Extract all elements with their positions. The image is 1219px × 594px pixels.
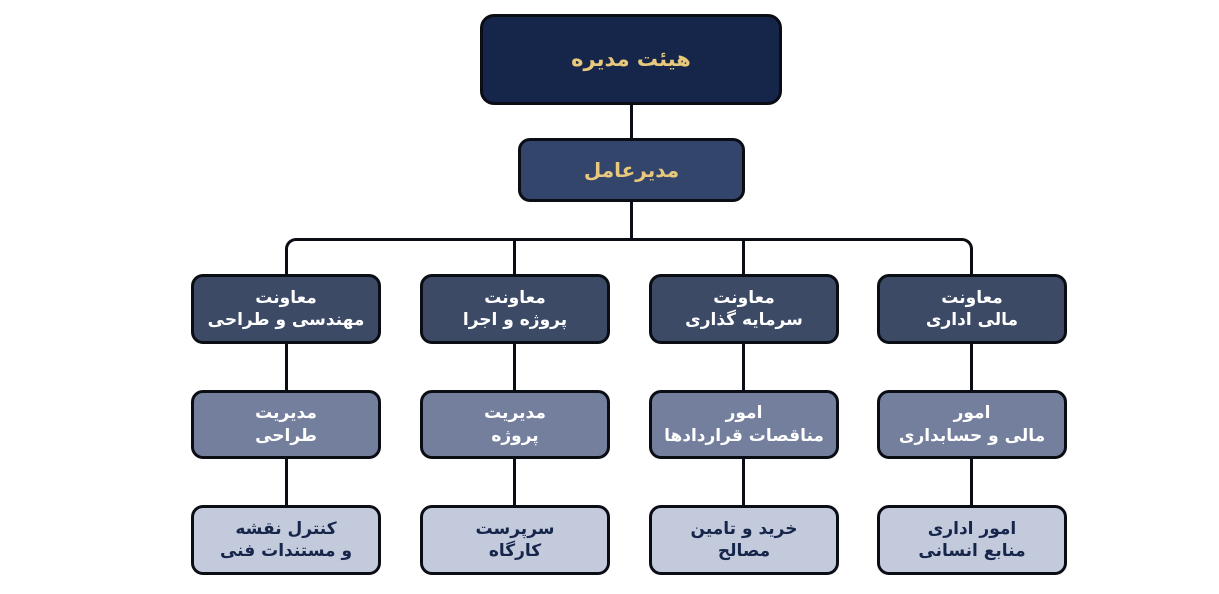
connector-manager-3-to-unit-3	[742, 458, 745, 506]
connector-deputy-4-to-manager-4	[970, 343, 973, 391]
connector-ceo-stem	[630, 201, 633, 241]
node-deputy-1[interactable]: معاونت مهندسی و طراحی	[191, 274, 381, 344]
node-deputy-4[interactable]: معاونت مالی اداری	[877, 274, 1067, 344]
connector-manager-2-to-unit-2	[513, 458, 516, 506]
node-manager-3[interactable]: امور مناقصات قراردادها	[649, 390, 839, 459]
node-manager-2[interactable]: مدیریت پروژه	[420, 390, 610, 459]
node-deputy-2[interactable]: معاونت پروژه و اجرا	[420, 274, 610, 344]
node-ceo[interactable]: مدیرعامل	[518, 138, 745, 202]
connector-manager-4-to-unit-4	[970, 458, 973, 506]
connector-deputies-bus	[285, 238, 973, 276]
connector-bus-drop-3	[742, 238, 745, 276]
node-deputy-3[interactable]: معاونت سرمایه گذاری	[649, 274, 839, 344]
node-board-of-directors[interactable]: هیئت مدیره	[480, 14, 782, 105]
connector-deputy-3-to-manager-3	[742, 343, 745, 391]
connector-deputy-1-to-manager-1	[285, 343, 288, 391]
node-unit-3[interactable]: خرید و تامین مصالح	[649, 505, 839, 575]
connector-deputy-2-to-manager-2	[513, 343, 516, 391]
node-manager-1[interactable]: مدیریت طراحی	[191, 390, 381, 459]
org-chart-canvas: هیئت مدیره مدیرعامل معاونت مهندسی و طراح…	[0, 0, 1219, 594]
node-unit-2[interactable]: سرپرست کارگاه	[420, 505, 610, 575]
node-manager-4[interactable]: امور مالی و حسابداری	[877, 390, 1067, 459]
node-unit-4[interactable]: امور اداری منابع انسانی	[877, 505, 1067, 575]
connector-manager-1-to-unit-1	[285, 458, 288, 506]
connector-board-to-ceo	[630, 104, 633, 140]
node-unit-1[interactable]: کنترل نقشه و مستندات فنی	[191, 505, 381, 575]
connector-bus-drop-2	[513, 238, 516, 276]
